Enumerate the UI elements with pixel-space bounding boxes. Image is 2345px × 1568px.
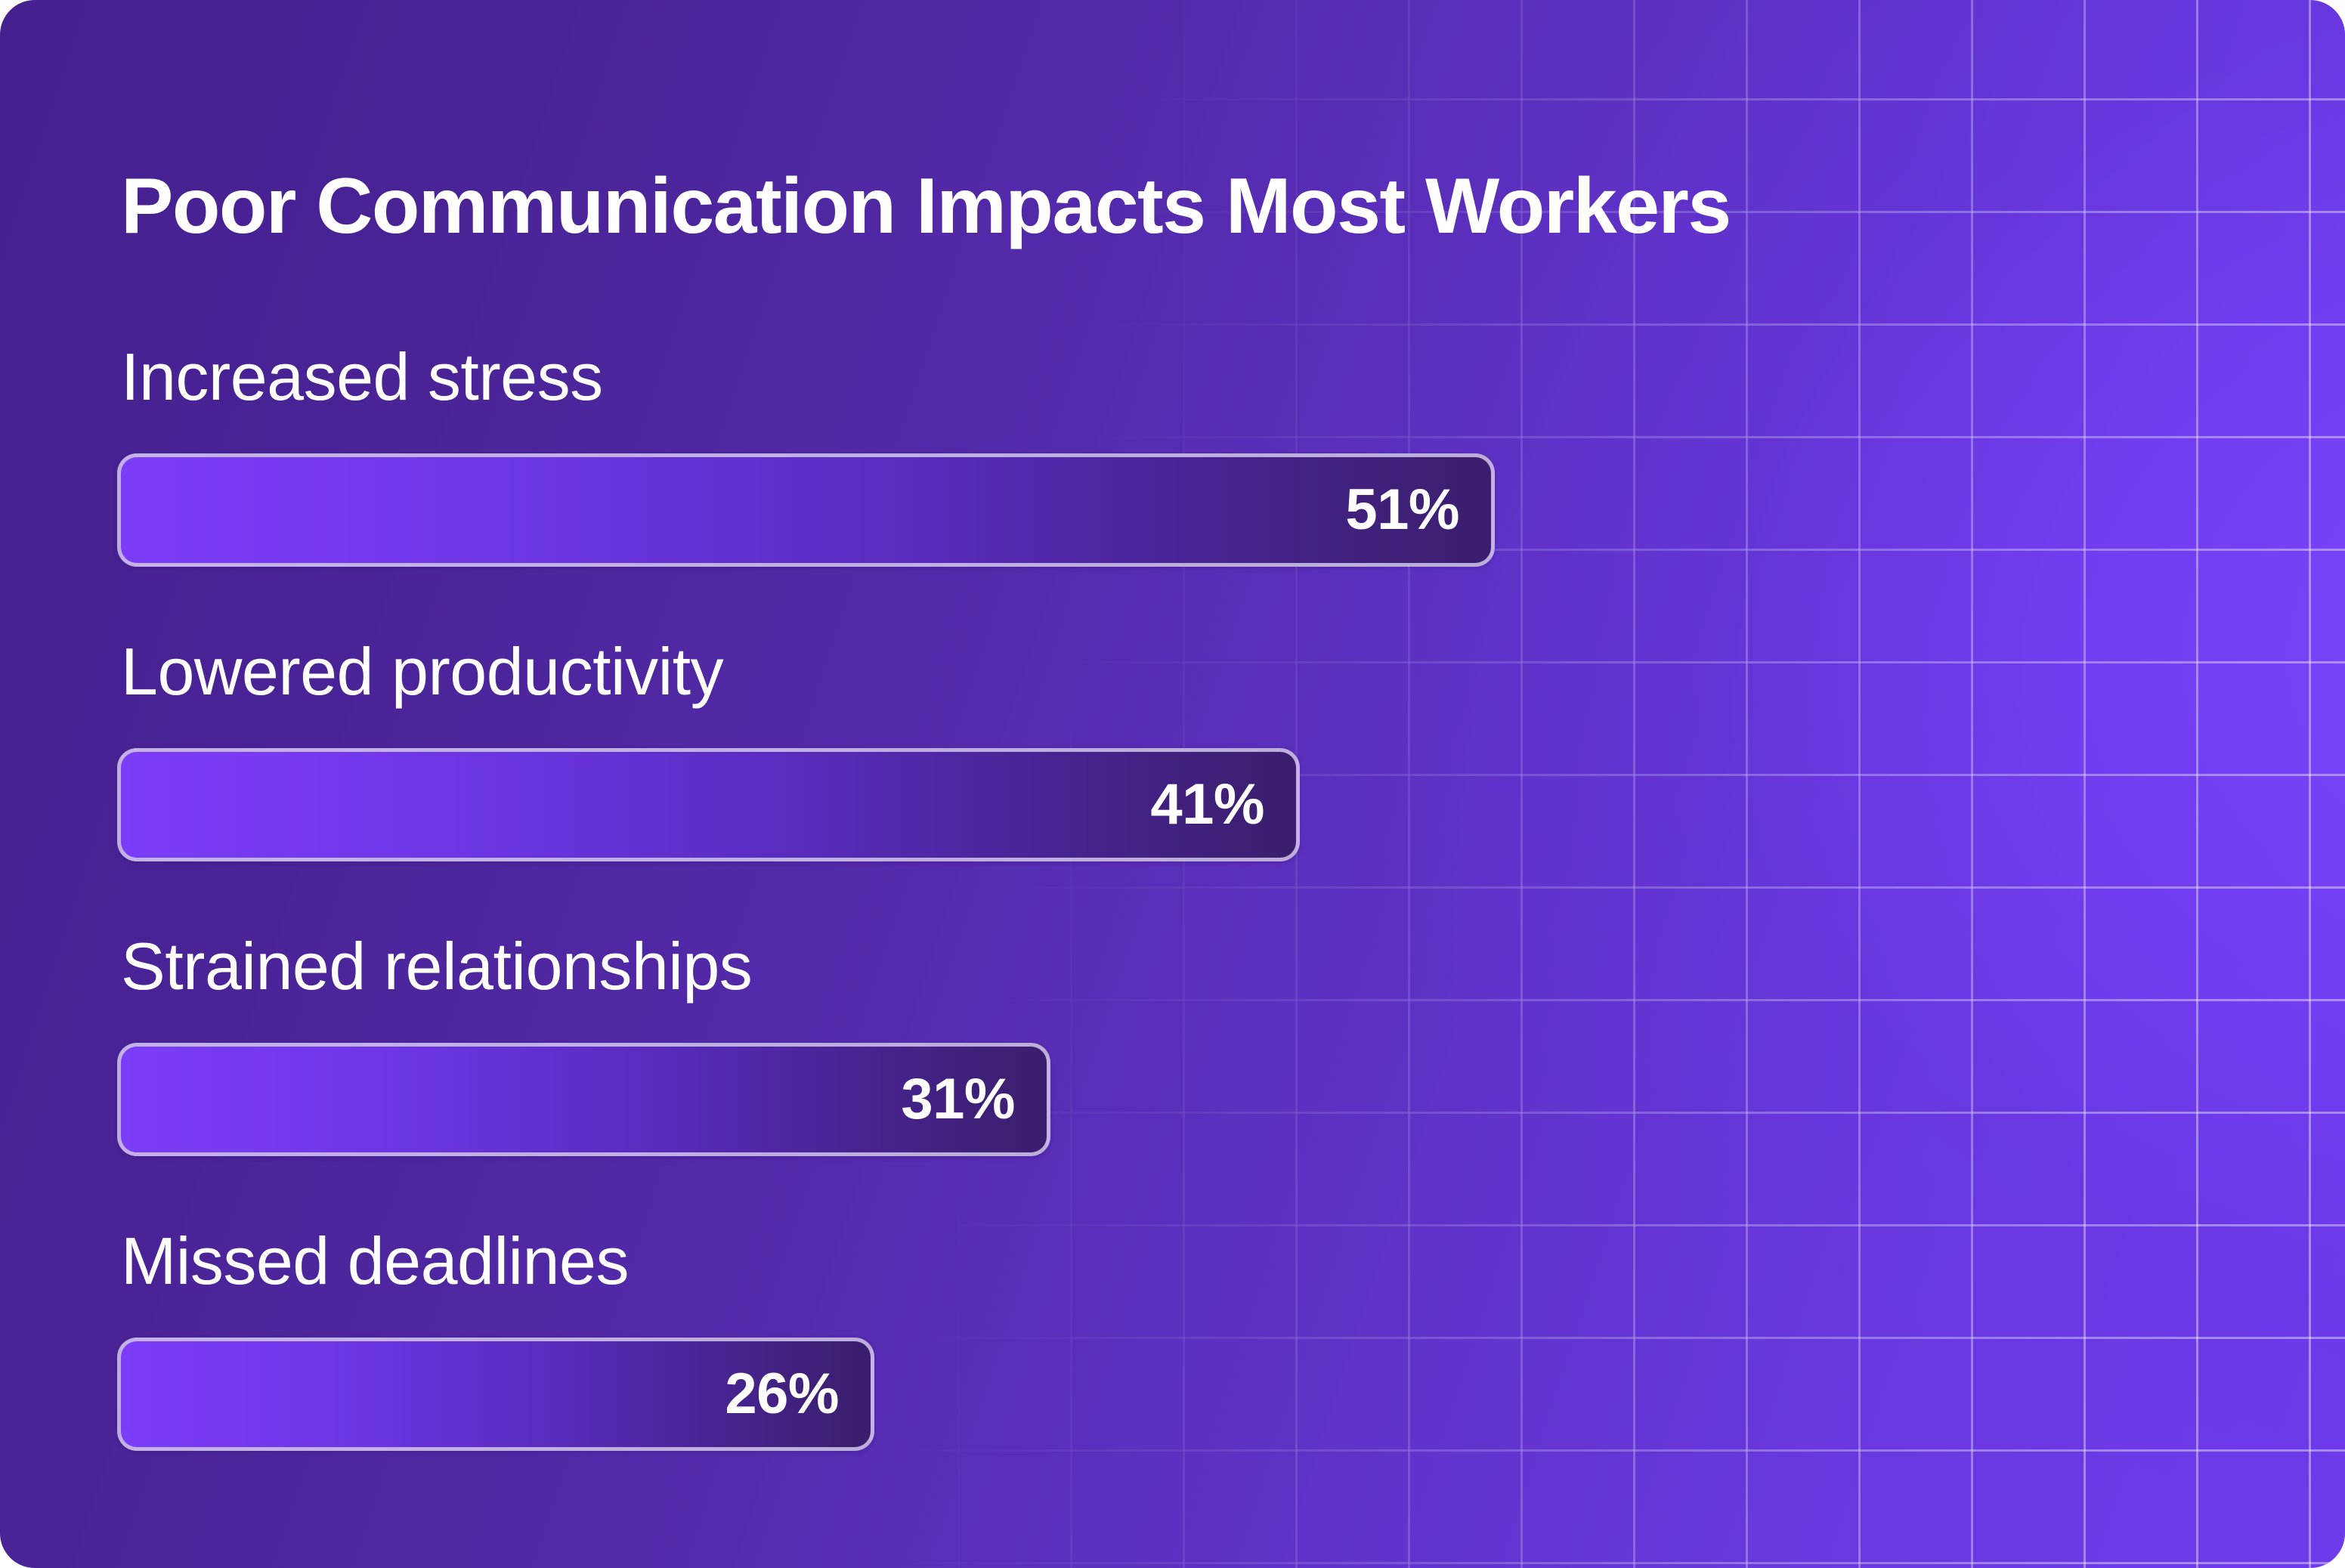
bar-row: Lowered productivity 41% (117, 639, 2278, 933)
bar-value-missed-deadlines: 26% (725, 1365, 839, 1423)
bar-value-strained-relationships: 31% (901, 1071, 1015, 1128)
infographic-card: Poor Communication Impacts Most Workers … (0, 0, 2345, 1568)
page-title: Poor Communication Impacts Most Workers (121, 165, 2237, 248)
bar-track-increased-stress: 51% (117, 453, 1495, 567)
bar-value-increased-stress: 51% (1345, 481, 1459, 539)
bar-label-lowered-productivity: Lowered productivity (121, 639, 723, 705)
bar-row: Strained relationships 31% (117, 933, 2278, 1228)
bar-label-missed-deadlines: Missed deadlines (121, 1228, 629, 1294)
bar-track-missed-deadlines: 26% (117, 1338, 874, 1451)
bar-row: Missed deadlines 26% (117, 1228, 2278, 1523)
bar-label-strained-relationships: Strained relationships (121, 933, 752, 1000)
bar-fill-strained-relationships: 31% (117, 1043, 1050, 1156)
bar-fill-missed-deadlines: 26% (117, 1338, 874, 1451)
bar-value-lowered-productivity: 41% (1150, 776, 1264, 833)
card-content: Poor Communication Impacts Most Workers … (0, 0, 2345, 1568)
bar-chart: Increased stress 51% Lowered productivit… (117, 344, 2278, 1523)
bar-fill-lowered-productivity: 41% (117, 748, 1300, 861)
bar-row: Increased stress 51% (117, 344, 2278, 639)
bar-fill-increased-stress: 51% (117, 453, 1495, 567)
bar-track-strained-relationships: 31% (117, 1043, 1050, 1156)
bar-label-increased-stress: Increased stress (121, 344, 603, 410)
bar-track-lowered-productivity: 41% (117, 748, 1300, 861)
